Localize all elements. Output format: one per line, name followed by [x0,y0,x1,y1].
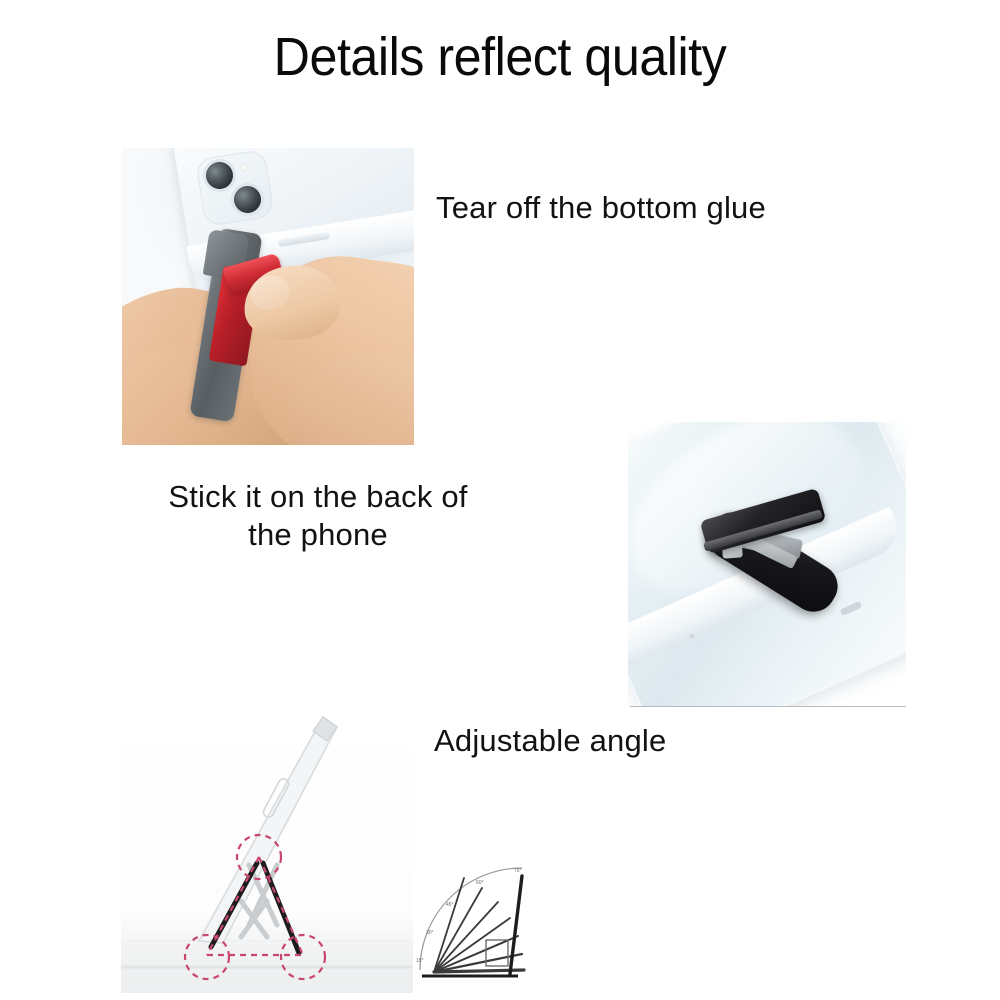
angle-label: 45° [446,902,454,908]
step-photo-tear-off-glue [122,148,414,445]
angle-label: 75° [514,868,522,874]
step-photo-stick-on-back [628,422,906,707]
step-photo-adjustable-angle [121,705,413,993]
angle-label: 60° [476,880,484,886]
angle-fan-diagram: 75° 60° 45° 30° 15° [414,862,546,986]
caption-adjustable-angle: Adjustable angle [434,721,666,761]
stand-side-view-illustration [121,705,413,993]
caption-tear-off-glue: Tear off the bottom glue [436,188,766,228]
product-infographic-page: Details reflect quality Tear off the bot… [0,0,1000,1000]
speaker-hole [690,634,694,638]
camera-module [195,149,275,227]
photo-divider-line [630,706,906,707]
caption-stick-on-back: Stick it on the back of the phone [122,478,514,554]
page-title: Details reflect quality [35,26,965,88]
angle-label: 15° [416,958,424,964]
angle-label: 30° [426,930,434,936]
